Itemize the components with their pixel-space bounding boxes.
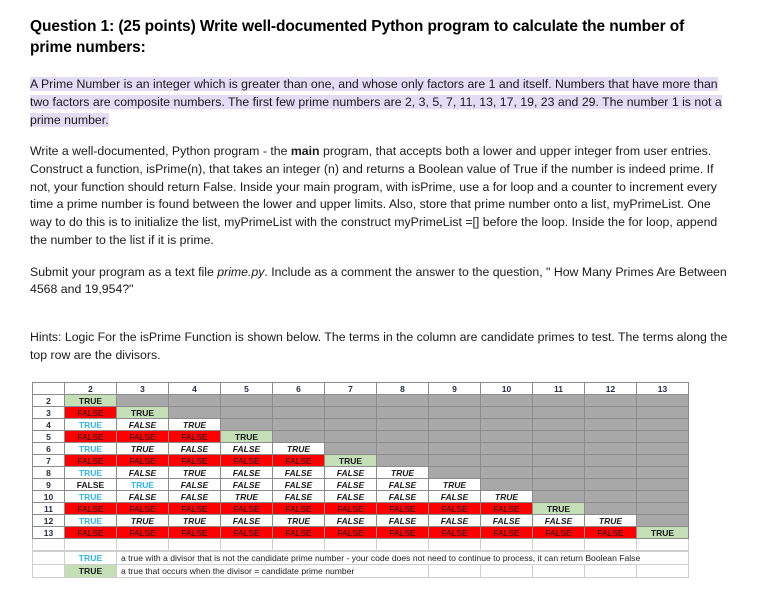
matrix-cell-7-6: FALSE: [273, 455, 325, 467]
matrix-cell-2-4: [169, 395, 221, 407]
matrix-cell-13-8: FALSE: [377, 527, 429, 539]
matrix-cell-3-6: [273, 407, 325, 419]
matrix-header-row: 2345678910111213: [33, 383, 689, 395]
matrix-row-header-9: 9: [33, 479, 65, 491]
matrix-cell-9-12: [585, 479, 637, 491]
matrix-cell-5-5: TRUE: [221, 431, 273, 443]
matrix-cell-12-11: FALSE: [533, 515, 585, 527]
matrix-cell-12-8: FALSE: [377, 515, 429, 527]
matrix-cell-9-11: [533, 479, 585, 491]
submission-paragraph: Submit your program as a text file prime…: [30, 264, 730, 299]
matrix-cell-2-9: [429, 395, 481, 407]
matrix-cell-4-7: [325, 419, 377, 431]
matrix-blank-cell: [429, 539, 481, 551]
matrix-blank-cell: [585, 539, 637, 551]
matrix-cell-12-9: FALSE: [429, 515, 481, 527]
matrix-row: 4TRUEFALSETRUE: [33, 419, 689, 431]
matrix-cell-9-8: FALSE: [377, 479, 429, 491]
page-title: Question 1: (25 points) Write well-docum…: [30, 16, 720, 59]
isprime-matrix-table: 2345678910111213 2TRUE3FALSETRUE4TRUEFAL…: [32, 382, 689, 551]
matrix-cell-2-10: [481, 395, 533, 407]
matrix-cell-9-5: FALSE: [221, 479, 273, 491]
submission-part1: Submit your program as a text file: [30, 265, 217, 279]
matrix-blank-cell: [637, 539, 689, 551]
matrix-col-header-2: 2: [65, 383, 117, 395]
legend-body: TRUEa true with a divisor that is not th…: [33, 552, 689, 578]
matrix-cell-5-11: [533, 431, 585, 443]
matrix-cell-7-10: [481, 455, 533, 467]
matrix-cell-12-13: [637, 515, 689, 527]
legend-pad-cell: [33, 552, 65, 565]
legend-key-green: TRUE: [65, 565, 117, 578]
legend-table: TRUEa true with a divisor that is not th…: [32, 551, 689, 578]
matrix-cell-13-5: FALSE: [221, 527, 273, 539]
matrix-row-header-2: 2: [33, 395, 65, 407]
matrix-cell-6-13: [637, 443, 689, 455]
matrix-row: 11FALSEFALSEFALSEFALSEFALSEFALSEFALSEFAL…: [33, 503, 689, 515]
matrix-row-header-3: 3: [33, 407, 65, 419]
legend-row: TRUEa true with a divisor that is not th…: [33, 552, 689, 565]
legend-empty-cell: [429, 565, 481, 578]
matrix-row-header-11: 11: [33, 503, 65, 515]
matrix-cell-3-4: [169, 407, 221, 419]
matrix-blank-cell: [117, 539, 169, 551]
matrix-blank-cell: [533, 539, 585, 551]
matrix-blank-cell: [273, 539, 325, 551]
matrix-cell-5-13: [637, 431, 689, 443]
matrix-cell-4-11: [533, 419, 585, 431]
matrix-cell-3-2: FALSE: [65, 407, 117, 419]
matrix-cell-6-10: [481, 443, 533, 455]
matrix-cell-6-7: [325, 443, 377, 455]
matrix-cell-3-12: [585, 407, 637, 419]
legend-empty-cell: [585, 565, 637, 578]
matrix-col-header-4: 4: [169, 383, 221, 395]
matrix-cell-11-6: FALSE: [273, 503, 325, 515]
matrix-cell-11-11: TRUE: [533, 503, 585, 515]
matrix-cell-4-6: [273, 419, 325, 431]
matrix-cell-8-6: FALSE: [273, 467, 325, 479]
matrix-cell-6-3: TRUE: [117, 443, 169, 455]
matrix-cell-6-12: [585, 443, 637, 455]
matrix-cell-4-8: [377, 419, 429, 431]
matrix-cell-11-9: FALSE: [429, 503, 481, 515]
matrix-corner-cell: [33, 383, 65, 395]
matrix-cell-7-5: FALSE: [221, 455, 273, 467]
matrix-cell-7-13: [637, 455, 689, 467]
legend-empty-cell: [481, 565, 533, 578]
matrix-col-header-9: 9: [429, 383, 481, 395]
matrix-col-header-5: 5: [221, 383, 273, 395]
matrix-cell-3-8: [377, 407, 429, 419]
matrix-row-header-5: 5: [33, 431, 65, 443]
matrix-cell-2-3: [117, 395, 169, 407]
matrix-cell-12-5: FALSE: [221, 515, 273, 527]
matrix-cell-13-4: FALSE: [169, 527, 221, 539]
matrix-cell-3-5: [221, 407, 273, 419]
matrix-row-header-12: 12: [33, 515, 65, 527]
matrix-row: 10TRUEFALSEFALSETRUEFALSEFALSEFALSEFALSE…: [33, 491, 689, 503]
matrix-cell-10-12: [585, 491, 637, 503]
matrix-cell-9-13: [637, 479, 689, 491]
matrix-cell-6-9: [429, 443, 481, 455]
instructions-paragraph: Write a well-documented, Python program …: [30, 143, 730, 249]
legend-row: TRUEa true that occurs when the divisor …: [33, 565, 689, 578]
matrix-cell-4-10: [481, 419, 533, 431]
matrix-cell-9-2: FALSE: [65, 479, 117, 491]
matrix-cell-5-3: FALSE: [117, 431, 169, 443]
matrix-blank-row: [33, 539, 689, 551]
matrix-cell-2-7: [325, 395, 377, 407]
matrix-cell-8-8: TRUE: [377, 467, 429, 479]
matrix-cell-10-6: FALSE: [273, 491, 325, 503]
instructions-bold-main: main: [291, 144, 320, 158]
matrix-cell-2-11: [533, 395, 585, 407]
legend-pad-cell: [33, 565, 65, 578]
matrix-cell-2-2: TRUE: [65, 395, 117, 407]
matrix-cell-11-8: FALSE: [377, 503, 429, 515]
matrix-cell-13-6: FALSE: [273, 527, 325, 539]
matrix-col-header-6: 6: [273, 383, 325, 395]
matrix-cell-5-10: [481, 431, 533, 443]
matrix-row-header-6: 6: [33, 443, 65, 455]
matrix-cell-13-2: FALSE: [65, 527, 117, 539]
matrix-cell-4-2: TRUE: [65, 419, 117, 431]
matrix-blank-cell: [325, 539, 377, 551]
matrix-cell-6-5: FALSE: [221, 443, 273, 455]
matrix-cell-4-5: [221, 419, 273, 431]
matrix-cell-12-2: TRUE: [65, 515, 117, 527]
matrix-cell-13-10: FALSE: [481, 527, 533, 539]
matrix-row-header-8: 8: [33, 467, 65, 479]
matrix-cell-11-2: FALSE: [65, 503, 117, 515]
matrix-cell-11-13: [637, 503, 689, 515]
matrix-cell-5-8: [377, 431, 429, 443]
matrix-cell-8-5: FALSE: [221, 467, 273, 479]
matrix-cell-8-10: [481, 467, 533, 479]
matrix-cell-6-6: TRUE: [273, 443, 325, 455]
matrix-col-header-10: 10: [481, 383, 533, 395]
matrix-cell-13-9: FALSE: [429, 527, 481, 539]
matrix-cell-10-7: FALSE: [325, 491, 377, 503]
matrix-cell-11-3: FALSE: [117, 503, 169, 515]
matrix-col-header-8: 8: [377, 383, 429, 395]
matrix-blank-cell: [65, 539, 117, 551]
matrix-cell-10-9: FALSE: [429, 491, 481, 503]
legend-description: a true with a divisor that is not the ca…: [117, 552, 689, 565]
matrix-blank-cell: [169, 539, 221, 551]
paragraph-spacer: [30, 299, 741, 315]
highlight-text: A Prime Number is an integer which is gr…: [30, 77, 722, 127]
legend-key-cyan: TRUE: [65, 552, 117, 565]
instructions-part1: Write a well-documented, Python program …: [30, 144, 291, 158]
matrix-col-header-3: 3: [117, 383, 169, 395]
matrix-cell-7-4: FALSE: [169, 455, 221, 467]
matrix-cell-10-5: TRUE: [221, 491, 273, 503]
matrix-cell-11-7: FALSE: [325, 503, 377, 515]
matrix-cell-4-12: [585, 419, 637, 431]
matrix-cell-2-13: [637, 395, 689, 407]
matrix-row: 12TRUETRUETRUEFALSETRUEFALSEFALSEFALSEFA…: [33, 515, 689, 527]
matrix-header: 2345678910111213: [33, 383, 689, 395]
matrix-cell-7-7: TRUE: [325, 455, 377, 467]
matrix-row: 8TRUEFALSETRUEFALSEFALSEFALSETRUE: [33, 467, 689, 479]
matrix-col-header-12: 12: [585, 383, 637, 395]
matrix-body: 2TRUE3FALSETRUE4TRUEFALSETRUE5FALSEFALSE…: [33, 395, 689, 551]
matrix-row-header-10: 10: [33, 491, 65, 503]
document-page: Question 1: (25 points) Write well-docum…: [0, 0, 769, 578]
matrix-cell-11-10: FALSE: [481, 503, 533, 515]
matrix-cell-3-7: [325, 407, 377, 419]
instructions-part2: program, that accepts both a lower and u…: [30, 144, 717, 247]
matrix-cell-5-12: [585, 431, 637, 443]
matrix-cell-8-9: [429, 467, 481, 479]
matrix-blank-cell: [377, 539, 429, 551]
matrix-cell-10-10: TRUE: [481, 491, 533, 503]
matrix-cell-3-11: [533, 407, 585, 419]
matrix-cell-7-11: [533, 455, 585, 467]
matrix-cell-11-4: FALSE: [169, 503, 221, 515]
matrix-cell-4-9: [429, 419, 481, 431]
matrix-cell-7-8: [377, 455, 429, 467]
matrix-cell-9-4: FALSE: [169, 479, 221, 491]
matrix-cell-9-7: FALSE: [325, 479, 377, 491]
matrix-cell-3-9: [429, 407, 481, 419]
matrix-cell-8-3: FALSE: [117, 467, 169, 479]
matrix-cell-10-3: FALSE: [117, 491, 169, 503]
matrix-cell-7-9: [429, 455, 481, 467]
matrix-cell-8-11: [533, 467, 585, 479]
legend-empty-cell: [533, 565, 585, 578]
matrix-cell-12-6: TRUE: [273, 515, 325, 527]
matrix-cell-10-2: TRUE: [65, 491, 117, 503]
matrix-blank-cell: [33, 539, 65, 551]
matrix-cell-6-4: FALSE: [169, 443, 221, 455]
matrix-cell-3-13: [637, 407, 689, 419]
matrix-cell-7-12: [585, 455, 637, 467]
matrix-cell-3-10: [481, 407, 533, 419]
definition-paragraph-highlighted: A Prime Number is an integer which is gr…: [30, 75, 738, 130]
matrix-row: 3FALSETRUE: [33, 407, 689, 419]
matrix-cell-2-6: [273, 395, 325, 407]
matrix-cell-5-4: FALSE: [169, 431, 221, 443]
matrix-cell-7-2: FALSE: [65, 455, 117, 467]
matrix-blank-cell: [221, 539, 273, 551]
matrix-cell-11-12: [585, 503, 637, 515]
matrix-cell-5-9: [429, 431, 481, 443]
matrix-row-header-4: 4: [33, 419, 65, 431]
matrix-col-header-13: 13: [637, 383, 689, 395]
matrix-cell-8-7: FALSE: [325, 467, 377, 479]
matrix-row: 13FALSEFALSEFALSEFALSEFALSEFALSEFALSEFAL…: [33, 527, 689, 539]
matrix-cell-13-11: FALSE: [533, 527, 585, 539]
isprime-matrix-container: 2345678910111213 2TRUE3FALSETRUE4TRUEFAL…: [30, 382, 741, 578]
matrix-cell-10-13: [637, 491, 689, 503]
matrix-cell-10-4: FALSE: [169, 491, 221, 503]
matrix-cell-5-6: [273, 431, 325, 443]
matrix-cell-2-12: [585, 395, 637, 407]
matrix-col-header-7: 7: [325, 383, 377, 395]
matrix-cell-5-2: FALSE: [65, 431, 117, 443]
matrix-cell-13-3: FALSE: [117, 527, 169, 539]
matrix-cell-12-12: TRUE: [585, 515, 637, 527]
matrix-cell-5-7: [325, 431, 377, 443]
matrix-row-header-13: 13: [33, 527, 65, 539]
matrix-row: 6TRUETRUEFALSEFALSETRUE: [33, 443, 689, 455]
matrix-cell-4-3: FALSE: [117, 419, 169, 431]
matrix-cell-6-11: [533, 443, 585, 455]
legend-empty-cell: [637, 565, 689, 578]
matrix-cell-9-3: TRUE: [117, 479, 169, 491]
matrix-cell-3-3: TRUE: [117, 407, 169, 419]
submission-filename: prime.py: [217, 265, 264, 279]
matrix-cell-8-4: TRUE: [169, 467, 221, 479]
matrix-cell-9-6: FALSE: [273, 479, 325, 491]
matrix-cell-12-10: FALSE: [481, 515, 533, 527]
matrix-cell-13-12: FALSE: [585, 527, 637, 539]
matrix-row-header-7: 7: [33, 455, 65, 467]
matrix-cell-6-2: TRUE: [65, 443, 117, 455]
matrix-cell-10-11: [533, 491, 585, 503]
matrix-row: 9FALSETRUEFALSEFALSEFALSEFALSEFALSETRUE: [33, 479, 689, 491]
matrix-cell-7-3: FALSE: [117, 455, 169, 467]
matrix-cell-8-2: TRUE: [65, 467, 117, 479]
matrix-cell-4-4: TRUE: [169, 419, 221, 431]
matrix-cell-9-9: TRUE: [429, 479, 481, 491]
matrix-cell-8-13: [637, 467, 689, 479]
matrix-row: 2TRUE: [33, 395, 689, 407]
matrix-cell-8-12: [585, 467, 637, 479]
matrix-cell-12-7: FALSE: [325, 515, 377, 527]
hints-paragraph: Hints: Logic For the isPrime Function is…: [30, 329, 730, 364]
matrix-cell-12-3: TRUE: [117, 515, 169, 527]
matrix-cell-2-5: [221, 395, 273, 407]
matrix-cell-9-10: [481, 479, 533, 491]
matrix-cell-2-8: [377, 395, 429, 407]
matrix-cell-13-7: FALSE: [325, 527, 377, 539]
matrix-cell-10-8: FALSE: [377, 491, 429, 503]
matrix-row: 5FALSEFALSEFALSETRUE: [33, 431, 689, 443]
matrix-cell-6-8: [377, 443, 429, 455]
matrix-col-header-11: 11: [533, 383, 585, 395]
matrix-cell-11-5: FALSE: [221, 503, 273, 515]
matrix-cell-4-13: [637, 419, 689, 431]
matrix-row: 7FALSEFALSEFALSEFALSEFALSETRUE: [33, 455, 689, 467]
matrix-cell-12-4: TRUE: [169, 515, 221, 527]
matrix-cell-13-13: TRUE: [637, 527, 689, 539]
matrix-blank-cell: [481, 539, 533, 551]
legend-description: a true that occurs when the divisor = ca…: [117, 565, 429, 578]
